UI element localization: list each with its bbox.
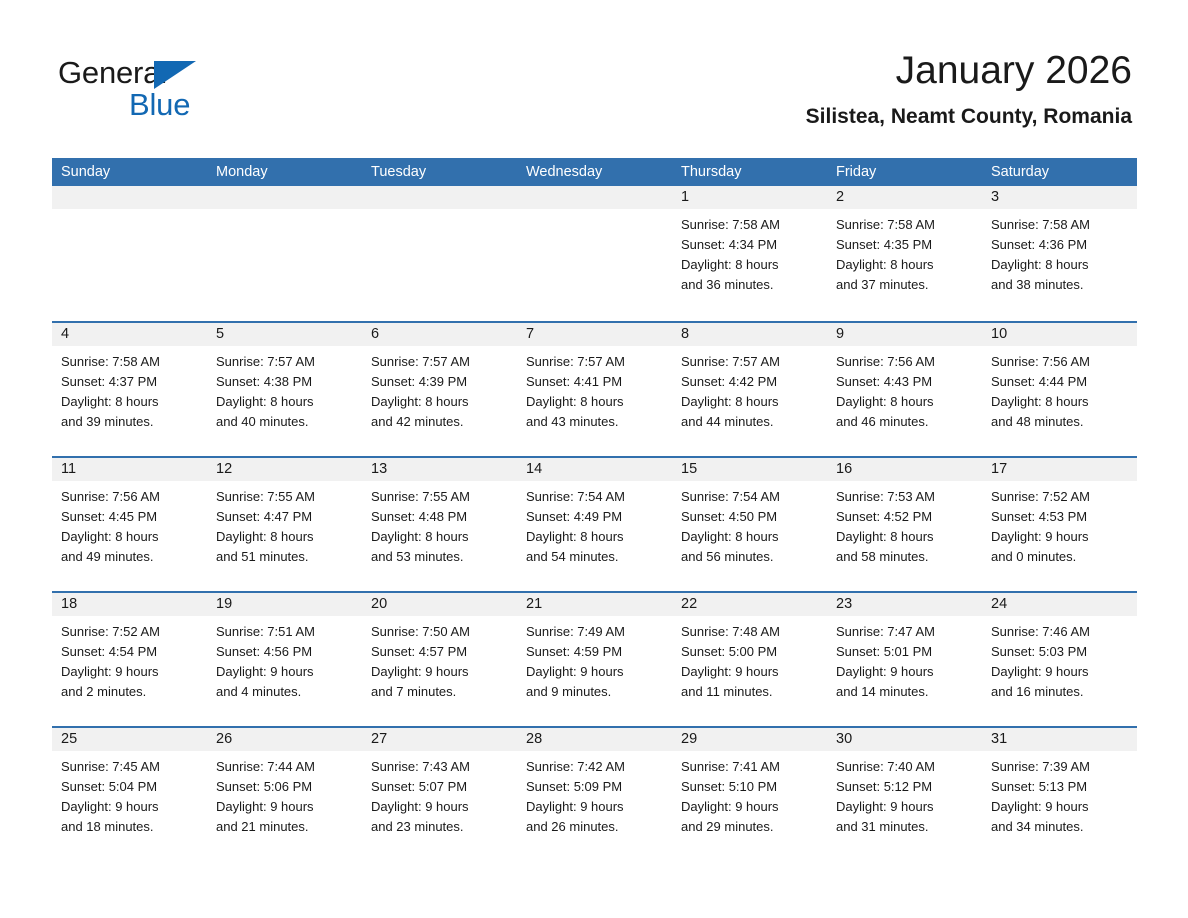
weekday-header-wednesday: Wednesday (517, 158, 672, 186)
day-number (362, 186, 517, 209)
calendar-day-cell[interactable]: 4Sunrise: 7:58 AMSunset: 4:37 PMDaylight… (52, 323, 207, 456)
sunset-text: Sunset: 4:57 PM (371, 642, 509, 662)
calendar-day-cell[interactable]: 7Sunrise: 7:57 AMSunset: 4:41 PMDaylight… (517, 323, 672, 456)
day-details: Sunrise: 7:57 AMSunset: 4:38 PMDaylight:… (207, 346, 362, 432)
daylight-text-line1: Daylight: 9 hours (681, 662, 819, 682)
day-details: Sunrise: 7:55 AMSunset: 4:47 PMDaylight:… (207, 481, 362, 567)
daylight-text-line2: and 2 minutes. (61, 682, 199, 702)
daylight-text-line2: and 14 minutes. (836, 682, 974, 702)
day-details: Sunrise: 7:52 AMSunset: 4:54 PMDaylight:… (52, 616, 207, 702)
day-number: 26 (207, 728, 362, 751)
day-number: 6 (362, 323, 517, 346)
day-number: 15 (672, 458, 827, 481)
logo-text-general: General (58, 56, 167, 90)
daylight-text-line2: and 53 minutes. (371, 547, 509, 567)
daylight-text-line1: Daylight: 9 hours (681, 797, 819, 817)
sunset-text: Sunset: 5:00 PM (681, 642, 819, 662)
sunrise-text: Sunrise: 7:46 AM (991, 622, 1129, 642)
day-number: 31 (982, 728, 1137, 751)
day-details: Sunrise: 7:48 AMSunset: 5:00 PMDaylight:… (672, 616, 827, 702)
calendar-week-row: 18Sunrise: 7:52 AMSunset: 4:54 PMDayligh… (52, 591, 1137, 726)
daylight-text-line2: and 40 minutes. (216, 412, 354, 432)
sunset-text: Sunset: 4:59 PM (526, 642, 664, 662)
sunrise-text: Sunrise: 7:49 AM (526, 622, 664, 642)
title-block: January 2026 Silistea, Neamt County, Rom… (806, 48, 1132, 129)
sunrise-text: Sunrise: 7:58 AM (61, 352, 199, 372)
day-number: 5 (207, 323, 362, 346)
daylight-text-line1: Daylight: 8 hours (61, 392, 199, 412)
day-details: Sunrise: 7:39 AMSunset: 5:13 PMDaylight:… (982, 751, 1137, 837)
calendar-day-cell[interactable]: 27Sunrise: 7:43 AMSunset: 5:07 PMDayligh… (362, 728, 517, 861)
daylight-text-line1: Daylight: 9 hours (61, 662, 199, 682)
day-number: 9 (827, 323, 982, 346)
sunset-text: Sunset: 5:06 PM (216, 777, 354, 797)
daylight-text-line2: and 44 minutes. (681, 412, 819, 432)
day-details: Sunrise: 7:58 AMSunset: 4:37 PMDaylight:… (52, 346, 207, 432)
daylight-text-line2: and 0 minutes. (991, 547, 1129, 567)
day-number: 22 (672, 593, 827, 616)
daylight-text-line2: and 58 minutes. (836, 547, 974, 567)
daylight-text-line1: Daylight: 8 hours (526, 527, 664, 547)
day-details: Sunrise: 7:45 AMSunset: 5:04 PMDaylight:… (52, 751, 207, 837)
sunrise-text: Sunrise: 7:58 AM (991, 215, 1129, 235)
daylight-text-line1: Daylight: 8 hours (836, 255, 974, 275)
day-details: Sunrise: 7:58 AMSunset: 4:35 PMDaylight:… (827, 209, 982, 295)
calendar-day-cell[interactable]: 24Sunrise: 7:46 AMSunset: 5:03 PMDayligh… (982, 593, 1137, 726)
daylight-text-line1: Daylight: 9 hours (216, 662, 354, 682)
day-number: 2 (827, 186, 982, 209)
sunset-text: Sunset: 4:35 PM (836, 235, 974, 255)
calendar-day-cell[interactable]: 20Sunrise: 7:50 AMSunset: 4:57 PMDayligh… (362, 593, 517, 726)
daylight-text-line1: Daylight: 9 hours (216, 797, 354, 817)
day-details: Sunrise: 7:58 AMSunset: 4:34 PMDaylight:… (672, 209, 827, 295)
sunrise-text: Sunrise: 7:55 AM (371, 487, 509, 507)
weekday-header-monday: Monday (207, 158, 362, 186)
day-number: 24 (982, 593, 1137, 616)
sunset-text: Sunset: 4:47 PM (216, 507, 354, 527)
sunrise-text: Sunrise: 7:55 AM (216, 487, 354, 507)
calendar-day-cell[interactable]: 13Sunrise: 7:55 AMSunset: 4:48 PMDayligh… (362, 458, 517, 591)
day-number: 25 (52, 728, 207, 751)
calendar-day-cell[interactable]: 12Sunrise: 7:55 AMSunset: 4:47 PMDayligh… (207, 458, 362, 591)
sunrise-text: Sunrise: 7:54 AM (526, 487, 664, 507)
sunset-text: Sunset: 4:43 PM (836, 372, 974, 392)
calendar-week-row: 25Sunrise: 7:45 AMSunset: 5:04 PMDayligh… (52, 726, 1137, 861)
daylight-text-line1: Daylight: 8 hours (371, 527, 509, 547)
day-number: 8 (672, 323, 827, 346)
sunrise-text: Sunrise: 7:52 AM (61, 622, 199, 642)
day-number: 14 (517, 458, 672, 481)
calendar-table: Sunday Monday Tuesday Wednesday Thursday… (52, 158, 1137, 861)
day-details: Sunrise: 7:56 AMSunset: 4:44 PMDaylight:… (982, 346, 1137, 432)
calendar-day-cell-empty (362, 186, 517, 321)
daylight-text-line1: Daylight: 8 hours (216, 527, 354, 547)
day-details: Sunrise: 7:57 AMSunset: 4:42 PMDaylight:… (672, 346, 827, 432)
day-details: Sunrise: 7:46 AMSunset: 5:03 PMDaylight:… (982, 616, 1137, 702)
page-header: General Blue January 2026 Silistea, Neam… (0, 0, 1188, 155)
daylight-text-line1: Daylight: 8 hours (681, 392, 819, 412)
calendar-page: General Blue January 2026 Silistea, Neam… (0, 0, 1188, 918)
day-number: 30 (827, 728, 982, 751)
day-details: Sunrise: 7:51 AMSunset: 4:56 PMDaylight:… (207, 616, 362, 702)
sunrise-text: Sunrise: 7:48 AM (681, 622, 819, 642)
page-title: January 2026 (806, 48, 1132, 94)
day-details: Sunrise: 7:47 AMSunset: 5:01 PMDaylight:… (827, 616, 982, 702)
day-details: Sunrise: 7:58 AMSunset: 4:36 PMDaylight:… (982, 209, 1137, 295)
sunset-text: Sunset: 4:49 PM (526, 507, 664, 527)
sunset-text: Sunset: 5:12 PM (836, 777, 974, 797)
weekday-header-tuesday: Tuesday (362, 158, 517, 186)
sunset-text: Sunset: 4:54 PM (61, 642, 199, 662)
calendar-day-cell[interactable]: 22Sunrise: 7:48 AMSunset: 5:00 PMDayligh… (672, 593, 827, 726)
sunset-text: Sunset: 4:56 PM (216, 642, 354, 662)
general-blue-logo[interactable]: General Blue (58, 56, 208, 128)
daylight-text-line1: Daylight: 8 hours (371, 392, 509, 412)
day-details: Sunrise: 7:57 AMSunset: 4:39 PMDaylight:… (362, 346, 517, 432)
calendar-day-cell[interactable]: 25Sunrise: 7:45 AMSunset: 5:04 PMDayligh… (52, 728, 207, 861)
calendar-weeks: 1Sunrise: 7:58 AMSunset: 4:34 PMDaylight… (52, 186, 1137, 861)
daylight-text-line2: and 34 minutes. (991, 817, 1129, 837)
sunrise-text: Sunrise: 7:43 AM (371, 757, 509, 777)
sunrise-text: Sunrise: 7:58 AM (681, 215, 819, 235)
daylight-text-line1: Daylight: 8 hours (836, 392, 974, 412)
day-details: Sunrise: 7:53 AMSunset: 4:52 PMDaylight:… (827, 481, 982, 567)
calendar-day-cell[interactable]: 31Sunrise: 7:39 AMSunset: 5:13 PMDayligh… (982, 728, 1137, 861)
calendar-day-cell[interactable]: 3Sunrise: 7:58 AMSunset: 4:36 PMDaylight… (982, 186, 1137, 321)
weekday-header-sunday: Sunday (52, 158, 207, 186)
sunrise-text: Sunrise: 7:45 AM (61, 757, 199, 777)
sunset-text: Sunset: 5:10 PM (681, 777, 819, 797)
day-number: 28 (517, 728, 672, 751)
daylight-text-line2: and 48 minutes. (991, 412, 1129, 432)
day-details: Sunrise: 7:54 AMSunset: 4:50 PMDaylight:… (672, 481, 827, 567)
day-number: 23 (827, 593, 982, 616)
sunrise-text: Sunrise: 7:58 AM (836, 215, 974, 235)
weekday-header-row: Sunday Monday Tuesday Wednesday Thursday… (52, 158, 1137, 186)
day-number: 17 (982, 458, 1137, 481)
day-details: Sunrise: 7:49 AMSunset: 4:59 PMDaylight:… (517, 616, 672, 702)
calendar-day-cell[interactable]: 14Sunrise: 7:54 AMSunset: 4:49 PMDayligh… (517, 458, 672, 591)
sunrise-text: Sunrise: 7:47 AM (836, 622, 974, 642)
sunset-text: Sunset: 4:38 PM (216, 372, 354, 392)
day-number (52, 186, 207, 209)
daylight-text-line2: and 18 minutes. (61, 817, 199, 837)
calendar-week-row: 1Sunrise: 7:58 AMSunset: 4:34 PMDaylight… (52, 186, 1137, 321)
day-details: Sunrise: 7:40 AMSunset: 5:12 PMDaylight:… (827, 751, 982, 837)
daylight-text-line1: Daylight: 9 hours (371, 662, 509, 682)
daylight-text-line2: and 36 minutes. (681, 275, 819, 295)
sunset-text: Sunset: 4:36 PM (991, 235, 1129, 255)
calendar-day-cell[interactable]: 10Sunrise: 7:56 AMSunset: 4:44 PMDayligh… (982, 323, 1137, 456)
day-number: 19 (207, 593, 362, 616)
sunset-text: Sunset: 4:53 PM (991, 507, 1129, 527)
location-subtitle: Silistea, Neamt County, Romania (806, 104, 1132, 129)
calendar-day-cell-empty (207, 186, 362, 321)
day-details: Sunrise: 7:52 AMSunset: 4:53 PMDaylight:… (982, 481, 1137, 567)
daylight-text-line2: and 46 minutes. (836, 412, 974, 432)
calendar-week-row: 11Sunrise: 7:56 AMSunset: 4:45 PMDayligh… (52, 456, 1137, 591)
day-number (517, 186, 672, 209)
daylight-text-line1: Daylight: 9 hours (991, 797, 1129, 817)
daylight-text-line2: and 7 minutes. (371, 682, 509, 702)
sunrise-text: Sunrise: 7:56 AM (61, 487, 199, 507)
day-number: 27 (362, 728, 517, 751)
daylight-text-line2: and 49 minutes. (61, 547, 199, 567)
day-number: 7 (517, 323, 672, 346)
calendar-day-cell[interactable]: 17Sunrise: 7:52 AMSunset: 4:53 PMDayligh… (982, 458, 1137, 591)
daylight-text-line1: Daylight: 9 hours (836, 662, 974, 682)
sunset-text: Sunset: 4:48 PM (371, 507, 509, 527)
calendar-day-cell[interactable]: 1Sunrise: 7:58 AMSunset: 4:34 PMDaylight… (672, 186, 827, 321)
sunset-text: Sunset: 4:34 PM (681, 235, 819, 255)
sunrise-text: Sunrise: 7:42 AM (526, 757, 664, 777)
sunset-text: Sunset: 5:07 PM (371, 777, 509, 797)
day-details: Sunrise: 7:56 AMSunset: 4:43 PMDaylight:… (827, 346, 982, 432)
calendar-day-cell[interactable]: 8Sunrise: 7:57 AMSunset: 4:42 PMDaylight… (672, 323, 827, 456)
calendar-day-cell[interactable]: 16Sunrise: 7:53 AMSunset: 4:52 PMDayligh… (827, 458, 982, 591)
sunset-text: Sunset: 5:01 PM (836, 642, 974, 662)
sunrise-text: Sunrise: 7:40 AM (836, 757, 974, 777)
sunset-text: Sunset: 4:37 PM (61, 372, 199, 392)
daylight-text-line2: and 37 minutes. (836, 275, 974, 295)
sunrise-text: Sunrise: 7:51 AM (216, 622, 354, 642)
day-details: Sunrise: 7:44 AMSunset: 5:06 PMDaylight:… (207, 751, 362, 837)
calendar-day-cell[interactable]: 9Sunrise: 7:56 AMSunset: 4:43 PMDaylight… (827, 323, 982, 456)
daylight-text-line2: and 26 minutes. (526, 817, 664, 837)
calendar-day-cell[interactable]: 23Sunrise: 7:47 AMSunset: 5:01 PMDayligh… (827, 593, 982, 726)
daylight-text-line2: and 54 minutes. (526, 547, 664, 567)
sunrise-text: Sunrise: 7:53 AM (836, 487, 974, 507)
day-number: 20 (362, 593, 517, 616)
day-number: 21 (517, 593, 672, 616)
calendar-week-row: 4Sunrise: 7:58 AMSunset: 4:37 PMDaylight… (52, 321, 1137, 456)
sunset-text: Sunset: 5:04 PM (61, 777, 199, 797)
calendar-day-cell[interactable]: 15Sunrise: 7:54 AMSunset: 4:50 PMDayligh… (672, 458, 827, 591)
sunrise-text: Sunrise: 7:39 AM (991, 757, 1129, 777)
logo-text-blue: Blue (129, 88, 190, 122)
calendar-day-cell[interactable]: 18Sunrise: 7:52 AMSunset: 4:54 PMDayligh… (52, 593, 207, 726)
sunset-text: Sunset: 5:03 PM (991, 642, 1129, 662)
day-details: Sunrise: 7:55 AMSunset: 4:48 PMDaylight:… (362, 481, 517, 567)
daylight-text-line2: and 16 minutes. (991, 682, 1129, 702)
calendar-day-cell[interactable]: 29Sunrise: 7:41 AMSunset: 5:10 PMDayligh… (672, 728, 827, 861)
daylight-text-line2: and 42 minutes. (371, 412, 509, 432)
day-number: 29 (672, 728, 827, 751)
sunset-text: Sunset: 4:41 PM (526, 372, 664, 392)
calendar-day-cell[interactable]: 6Sunrise: 7:57 AMSunset: 4:39 PMDaylight… (362, 323, 517, 456)
daylight-text-line2: and 43 minutes. (526, 412, 664, 432)
daylight-text-line1: Daylight: 8 hours (836, 527, 974, 547)
day-details: Sunrise: 7:57 AMSunset: 4:41 PMDaylight:… (517, 346, 672, 432)
day-number: 18 (52, 593, 207, 616)
daylight-text-line2: and 21 minutes. (216, 817, 354, 837)
daylight-text-line1: Daylight: 8 hours (216, 392, 354, 412)
sunrise-text: Sunrise: 7:57 AM (371, 352, 509, 372)
sunrise-text: Sunrise: 7:44 AM (216, 757, 354, 777)
sunset-text: Sunset: 4:52 PM (836, 507, 974, 527)
sunrise-text: Sunrise: 7:50 AM (371, 622, 509, 642)
day-details: Sunrise: 7:41 AMSunset: 5:10 PMDaylight:… (672, 751, 827, 837)
daylight-text-line1: Daylight: 9 hours (61, 797, 199, 817)
daylight-text-line2: and 9 minutes. (526, 682, 664, 702)
sunset-text: Sunset: 4:44 PM (991, 372, 1129, 392)
day-details: Sunrise: 7:43 AMSunset: 5:07 PMDaylight:… (362, 751, 517, 837)
sunrise-text: Sunrise: 7:57 AM (681, 352, 819, 372)
sunrise-text: Sunrise: 7:56 AM (991, 352, 1129, 372)
daylight-text-line1: Daylight: 8 hours (61, 527, 199, 547)
daylight-text-line2: and 29 minutes. (681, 817, 819, 837)
day-details: Sunrise: 7:56 AMSunset: 4:45 PMDaylight:… (52, 481, 207, 567)
sunset-text: Sunset: 4:45 PM (61, 507, 199, 527)
daylight-text-line1: Daylight: 9 hours (836, 797, 974, 817)
daylight-text-line2: and 11 minutes. (681, 682, 819, 702)
sunrise-text: Sunrise: 7:54 AM (681, 487, 819, 507)
daylight-text-line1: Daylight: 8 hours (681, 255, 819, 275)
daylight-text-line1: Daylight: 8 hours (991, 255, 1129, 275)
daylight-text-line1: Daylight: 9 hours (371, 797, 509, 817)
daylight-text-line2: and 56 minutes. (681, 547, 819, 567)
sunset-text: Sunset: 5:09 PM (526, 777, 664, 797)
daylight-text-line2: and 31 minutes. (836, 817, 974, 837)
day-number: 11 (52, 458, 207, 481)
calendar-day-cell[interactable]: 26Sunrise: 7:44 AMSunset: 5:06 PMDayligh… (207, 728, 362, 861)
logo-triangle-icon (154, 61, 196, 89)
sunset-text: Sunset: 4:50 PM (681, 507, 819, 527)
day-details: Sunrise: 7:42 AMSunset: 5:09 PMDaylight:… (517, 751, 672, 837)
calendar-day-cell[interactable]: 2Sunrise: 7:58 AMSunset: 4:35 PMDaylight… (827, 186, 982, 321)
day-number: 10 (982, 323, 1137, 346)
daylight-text-line1: Daylight: 9 hours (526, 662, 664, 682)
calendar-day-cell[interactable]: 5Sunrise: 7:57 AMSunset: 4:38 PMDaylight… (207, 323, 362, 456)
sunrise-text: Sunrise: 7:57 AM (216, 352, 354, 372)
daylight-text-line2: and 51 minutes. (216, 547, 354, 567)
daylight-text-line2: and 4 minutes. (216, 682, 354, 702)
day-details: Sunrise: 7:54 AMSunset: 4:49 PMDaylight:… (517, 481, 672, 567)
weekday-header-friday: Friday (827, 158, 982, 186)
day-number (207, 186, 362, 209)
sunrise-text: Sunrise: 7:57 AM (526, 352, 664, 372)
calendar-day-cell[interactable]: 30Sunrise: 7:40 AMSunset: 5:12 PMDayligh… (827, 728, 982, 861)
calendar-day-cell[interactable]: 28Sunrise: 7:42 AMSunset: 5:09 PMDayligh… (517, 728, 672, 861)
daylight-text-line1: Daylight: 8 hours (681, 527, 819, 547)
day-number: 4 (52, 323, 207, 346)
calendar-day-cell[interactable]: 11Sunrise: 7:56 AMSunset: 4:45 PMDayligh… (52, 458, 207, 591)
weekday-header-thursday: Thursday (672, 158, 827, 186)
calendar-day-cell-empty (52, 186, 207, 321)
sunset-text: Sunset: 4:39 PM (371, 372, 509, 392)
day-number: 16 (827, 458, 982, 481)
daylight-text-line2: and 39 minutes. (61, 412, 199, 432)
sunrise-text: Sunrise: 7:41 AM (681, 757, 819, 777)
daylight-text-line1: Daylight: 8 hours (991, 392, 1129, 412)
sunset-text: Sunset: 4:42 PM (681, 372, 819, 392)
daylight-text-line1: Daylight: 9 hours (991, 662, 1129, 682)
daylight-text-line2: and 38 minutes. (991, 275, 1129, 295)
day-number: 1 (672, 186, 827, 209)
day-number: 13 (362, 458, 517, 481)
day-number: 12 (207, 458, 362, 481)
calendar-day-cell[interactable]: 19Sunrise: 7:51 AMSunset: 4:56 PMDayligh… (207, 593, 362, 726)
sunrise-text: Sunrise: 7:52 AM (991, 487, 1129, 507)
daylight-text-line1: Daylight: 9 hours (991, 527, 1129, 547)
calendar-day-cell[interactable]: 21Sunrise: 7:49 AMSunset: 4:59 PMDayligh… (517, 593, 672, 726)
daylight-text-line1: Daylight: 8 hours (526, 392, 664, 412)
sunset-text: Sunset: 5:13 PM (991, 777, 1129, 797)
day-details: Sunrise: 7:50 AMSunset: 4:57 PMDaylight:… (362, 616, 517, 702)
sunrise-text: Sunrise: 7:56 AM (836, 352, 974, 372)
daylight-text-line2: and 23 minutes. (371, 817, 509, 837)
weekday-header-saturday: Saturday (982, 158, 1137, 186)
calendar-day-cell-empty (517, 186, 672, 321)
daylight-text-line1: Daylight: 9 hours (526, 797, 664, 817)
day-number: 3 (982, 186, 1137, 209)
